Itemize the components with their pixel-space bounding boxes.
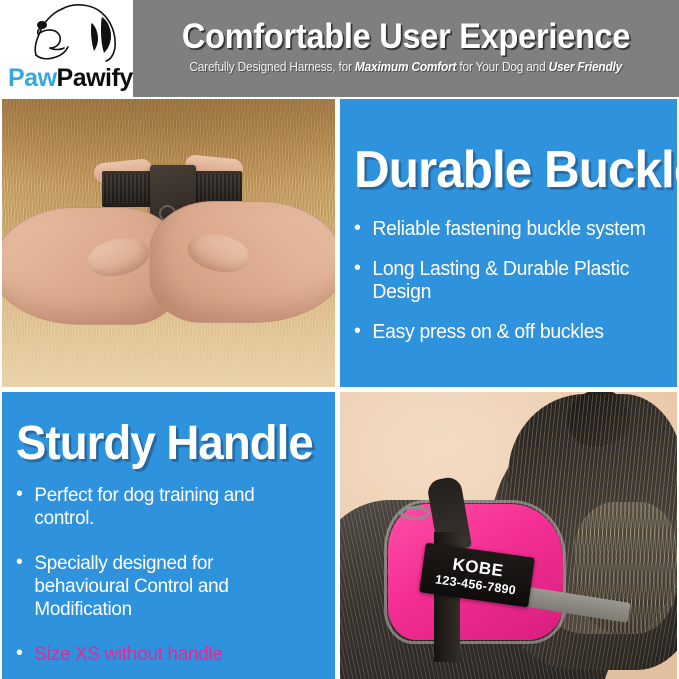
dog-head-icon (18, 3, 130, 63)
dog-harness-photo: KOBE 123-456-7890 (340, 392, 677, 679)
list-item: Perfect for dog training and control. (16, 484, 312, 530)
subtitle-part-2: for Your Dog and (457, 60, 549, 74)
list-item: Long Lasting & Durable Plastic Design (354, 258, 654, 305)
harness-d-ring-icon (400, 506, 430, 520)
list-item: Easy press on & off buckles (354, 321, 654, 345)
list-item: Specially designed for behavioural Contr… (16, 552, 312, 621)
sturdy-handle-bullet-list: Perfect for dog training and control. Sp… (16, 484, 321, 666)
sturdy-handle-heading: Sturdy Handle (16, 392, 306, 468)
page-subtitle: Carefully Designed Harness, for Maximum … (190, 60, 623, 74)
list-item-highlight: Size XS without handle (16, 643, 312, 666)
feature-grid: Durable Buckle Reliable fastening buckle… (0, 99, 679, 679)
brand-wordmark: PawPawify (8, 66, 133, 91)
subtitle-emphasis-1: Maximum Comfort (355, 60, 456, 74)
durable-buckle-panel: Durable Buckle Reliable fastening buckle… (340, 99, 677, 387)
subtitle-emphasis-2: User Friendly (549, 60, 622, 74)
durable-buckle-heading: Durable Buckle (354, 99, 648, 196)
sturdy-handle-panel: Sturdy Handle Perfect for dog training a… (2, 392, 335, 679)
brand-logo: PawPawify (0, 0, 133, 97)
page-title: Comfortable User Experience (182, 19, 630, 56)
brand-word-paw: Paw (8, 64, 57, 92)
subtitle-part-1: Carefully Designed Harness, for (190, 60, 356, 74)
list-item: Reliable fastening buckle system (354, 218, 654, 242)
durable-buckle-bullet-list: Reliable fastening buckle system Long La… (354, 218, 663, 344)
brand-word-pawify: Pawify (57, 64, 133, 92)
buckle-photo-cell (2, 99, 335, 387)
dog-ear (561, 392, 635, 453)
harness-photo-cell: KOBE 123-456-7890 (340, 392, 677, 679)
header-banner: Comfortable User Experience Carefully De… (133, 0, 679, 97)
infographic-page: PawPawify Comfortable User Experience Ca… (0, 0, 679, 679)
hands-buckle-photo (2, 99, 335, 387)
header-bar: PawPawify Comfortable User Experience Ca… (0, 0, 679, 97)
